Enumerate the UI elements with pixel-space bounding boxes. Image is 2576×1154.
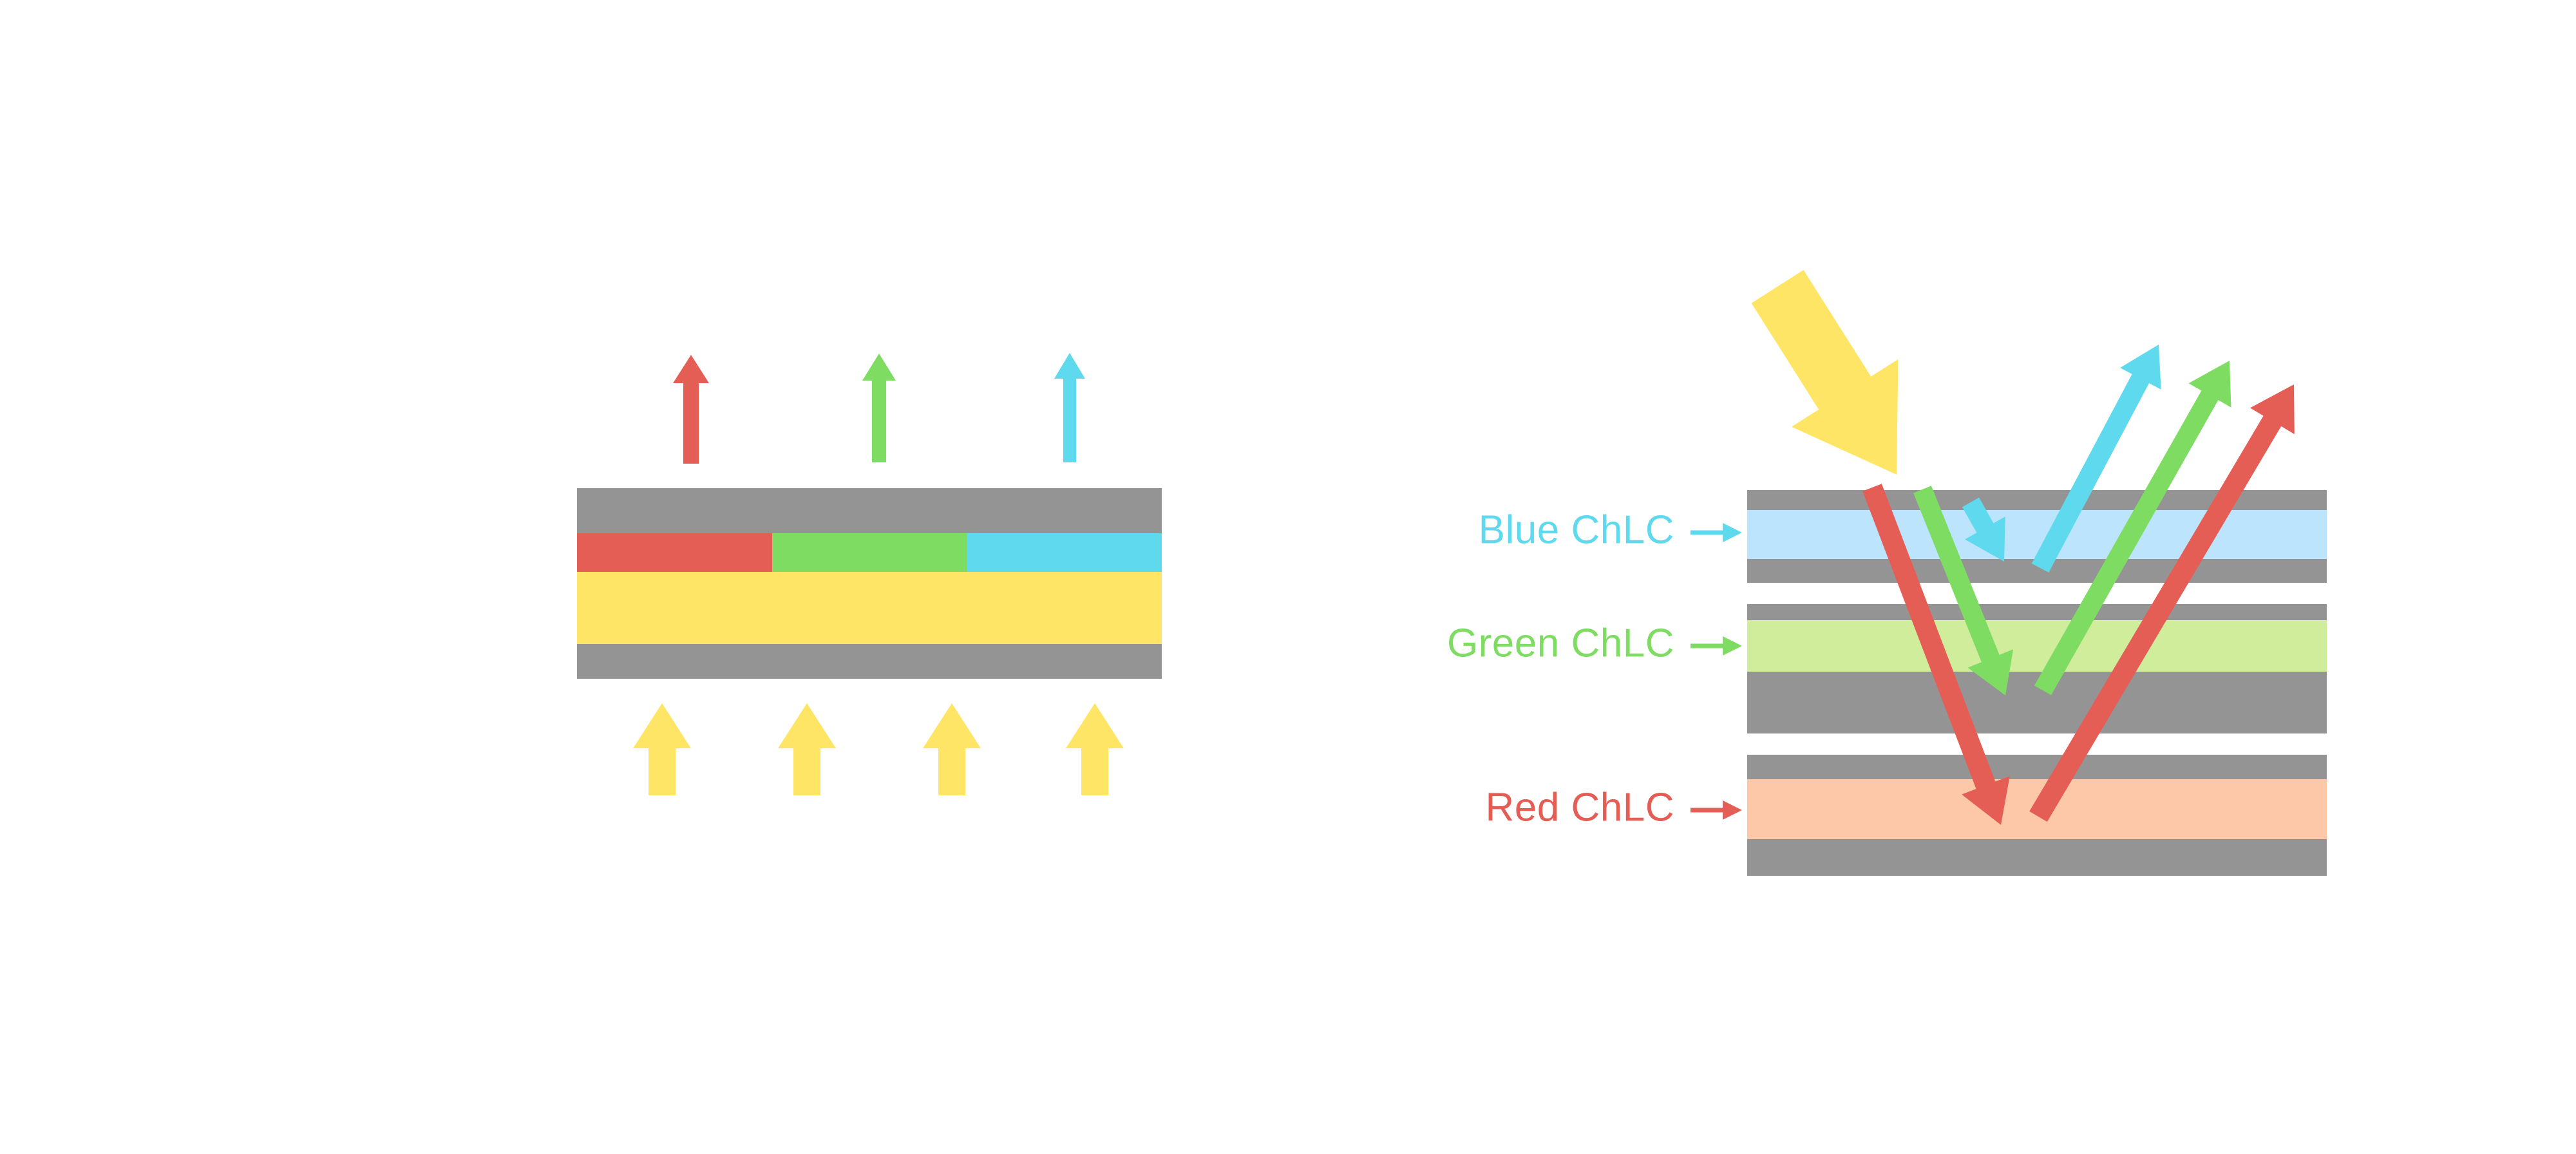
red-filter [577, 533, 772, 572]
blue-chlc-label: Blue ChLC [1479, 507, 1674, 552]
diagram-canvas: Blue ChLCGreen ChLCRed ChLC [0, 0, 2576, 1154]
band-green-chlc [1747, 620, 2327, 672]
bottom-electrode [577, 644, 1162, 679]
backlight-layer [577, 572, 1162, 644]
band-blue-chlc [1747, 510, 2327, 559]
band-gray-5 [1747, 755, 2327, 779]
band-gray-3 [1747, 604, 2327, 620]
left-layer-stack [577, 488, 1162, 679]
top-electrode [577, 488, 1162, 533]
figure-root: Blue ChLCGreen ChLCRed ChLC [0, 0, 2576, 1154]
green-filter [772, 533, 967, 572]
red-chlc-label: Red ChLC [1486, 785, 1674, 829]
color-filter-row [577, 533, 1162, 572]
band-gray-6 [1747, 839, 2327, 876]
blue-filter [967, 533, 1162, 572]
green-chlc-label: Green ChLC [1447, 621, 1674, 665]
